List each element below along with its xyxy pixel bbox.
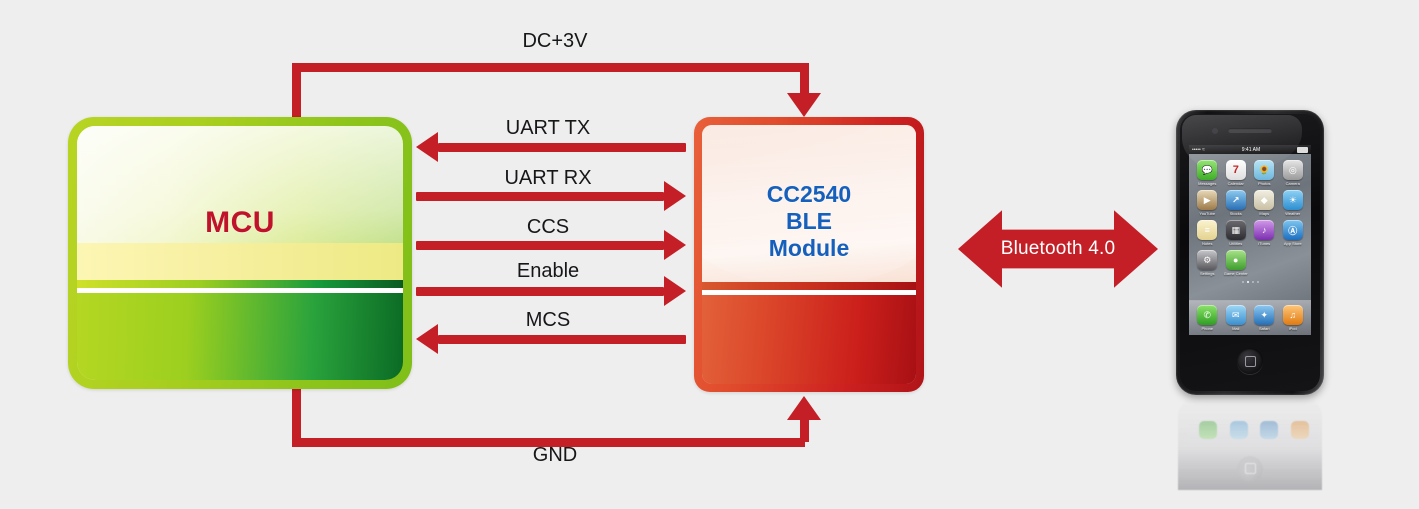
signal-label-uart-tx: UART TX [448,117,648,140]
app-store-icon[interactable]: Ⓐ [1283,220,1303,240]
page-dot[interactable] [1247,281,1249,283]
app-icon-messages[interactable]: 💬Messages [1194,160,1221,186]
messages-icon[interactable]: 💬 [1197,160,1217,180]
app-label: Messages [1198,181,1216,186]
app-label: iTunes [1258,241,1270,246]
phone-screen[interactable]: ••••• ≈ 9:41 AM 💬Messages7Calendar🌻Photo… [1189,145,1311,335]
status-bar: ••••• ≈ 9:41 AM [1189,145,1311,154]
ipod-icon[interactable]: ♫ [1283,305,1303,325]
app-icon-maps[interactable]: ◆Maps [1251,190,1278,216]
signal-arrowhead-left-icon [416,132,438,162]
dock-item-label: Phone [1201,326,1213,331]
app-icon-youtube[interactable]: ▶YouTube [1194,190,1221,216]
phone-icon[interactable]: ✆ [1197,305,1217,325]
home-screen-app-grid: 💬Messages7Calendar🌻Photos◎Camera▶YouTube… [1189,154,1311,278]
ble-module-label: CC2540 BLE Module [702,125,916,384]
page-indicator-dots [1189,281,1311,283]
mcu-label: MCU [77,126,403,380]
reflection-dock [1189,416,1319,444]
signal-arrowhead-right-icon [664,230,686,260]
maps-icon[interactable]: ◆ [1254,190,1274,210]
app-icon-stocks[interactable]: ↗Stocks [1223,190,1250,216]
signal-arrowhead-right-icon [664,276,686,306]
app-icon-weather[interactable]: ☀Weather [1280,190,1307,216]
calendar-icon[interactable]: 7 [1226,160,1246,180]
photos-icon[interactable]: 🌻 [1254,160,1274,180]
gnd-label: GND [455,444,655,467]
ble-label-line2: BLE [786,208,832,235]
dc3v-top-rail [292,63,805,72]
app-icon-settings[interactable]: ⚙Settings [1194,250,1221,276]
gnd-right-riser [800,418,809,442]
dock-item-label: Safari [1259,326,1269,331]
notes-icon[interactable]: ≡ [1197,220,1217,240]
signal-arrowhead-left-icon [416,324,438,354]
signal-line-mcs [438,335,686,344]
signal-line-enable [416,287,664,296]
phone-reflection [1178,398,1322,490]
app-icon-camera[interactable]: ◎Camera [1280,160,1307,186]
app-label: Photos [1258,181,1270,186]
app-icon-photos[interactable]: 🌻Photos [1251,160,1278,186]
mail-icon[interactable]: ✉ [1226,305,1246,325]
page-dot[interactable] [1257,281,1259,283]
app-label: Notes [1202,241,1212,246]
ble-inner-surface: CC2540 BLE Module [702,125,916,384]
app-label: Calendar [1228,181,1244,186]
status-bar-carrier: ••••• ≈ [1192,147,1205,153]
front-camera-icon [1212,128,1218,134]
reflection-icon [1199,421,1217,439]
camera-icon[interactable]: ◎ [1283,160,1303,180]
reflection-icon [1230,421,1248,439]
dock-item-mail[interactable]: ✉Mail [1226,305,1246,331]
ble-module-block[interactable]: CC2540 BLE Module [694,117,924,392]
home-button[interactable] [1237,348,1263,374]
app-label: Stocks [1230,211,1242,216]
dock-item-label: Mail [1232,326,1239,331]
stocks-icon[interactable]: ↗ [1226,190,1246,210]
signal-label-mcs: MCS [448,309,648,332]
ble-label-line1: CC2540 [767,181,851,208]
app-icon-app-store[interactable]: ⒶApp Store [1280,220,1307,246]
weather-icon[interactable]: ☀ [1283,190,1303,210]
bluetooth-link-arrow-icon: Bluetooth 4.0 [958,205,1158,293]
app-label: Utilities [1229,241,1242,246]
status-bar-time: 9:41 AM [1242,147,1260,153]
reflection-home-square-icon [1245,464,1256,475]
gnd-left-riser [292,389,301,442]
signal-label-enable: Enable [448,260,648,283]
dock-item-label: iPod [1289,326,1297,331]
app-label: Maps [1259,211,1269,216]
itunes-icon[interactable]: ♪ [1254,220,1274,240]
reflection-icon [1291,421,1309,439]
ble-label-line3: Module [769,235,850,262]
home-button-square-icon [1245,356,1256,367]
mcu-inner-surface: MCU [77,126,403,380]
diagram-canvas: DC+3V GND UART TX UART RX CCS Enable MCS… [0,0,1419,509]
reflection-icon [1260,421,1278,439]
earpiece-speaker-icon [1228,128,1272,133]
dc3v-label: DC+3V [455,30,655,53]
battery-icon [1297,147,1308,153]
safari-icon[interactable]: ✦ [1254,305,1274,325]
app-label: Weather [1285,211,1300,216]
mcu-block[interactable]: MCU [68,117,412,389]
page-dot[interactable] [1242,281,1244,283]
app-icon-game-center[interactable]: ●Game Center [1223,250,1250,276]
gnd-arrowhead-icon [787,396,821,420]
app-label: Settings [1200,271,1214,276]
utilities-icon[interactable]: ▦ [1226,220,1246,240]
signal-line-uart-rx [416,192,664,201]
signal-line-uart-tx [438,143,686,152]
app-icon-notes[interactable]: ≡Notes [1194,220,1221,246]
app-icon-calendar[interactable]: 7Calendar [1223,160,1250,186]
app-label: Game Center [1224,271,1248,276]
reflection-home-button [1237,456,1263,482]
dock-item-phone[interactable]: ✆Phone [1197,305,1217,331]
dock-item-safari[interactable]: ✦Safari [1254,305,1274,331]
settings-icon[interactable]: ⚙ [1197,250,1217,270]
signal-line-ccs [416,241,664,250]
app-icon-itunes[interactable]: ♪iTunes [1251,220,1278,246]
signal-label-ccs: CCS [448,216,648,239]
bluetooth-label: Bluetooth 4.0 [1001,238,1116,260]
app-label: App Store [1284,241,1302,246]
page-dot[interactable] [1252,281,1254,283]
app-label: Camera [1286,181,1300,186]
dc3v-right-drop [800,63,809,96]
dc3v-arrowhead-icon [787,93,821,117]
signal-label-uart-rx: UART RX [448,167,648,190]
signal-arrowhead-right-icon [664,181,686,211]
app-icon-utilities[interactable]: ▦Utilities [1223,220,1250,246]
smartphone: ••••• ≈ 9:41 AM 💬Messages7Calendar🌻Photo… [1176,110,1324,410]
phone-body: ••••• ≈ 9:41 AM 💬Messages7Calendar🌻Photo… [1176,110,1324,395]
app-label: YouTube [1199,211,1215,216]
phone-dock: ✆Phone✉Mail✦Safari♫iPod [1189,300,1311,335]
youtube-icon[interactable]: ▶ [1197,190,1217,210]
game-center-icon[interactable]: ● [1226,250,1246,270]
dock-item-ipod[interactable]: ♫iPod [1283,305,1303,331]
